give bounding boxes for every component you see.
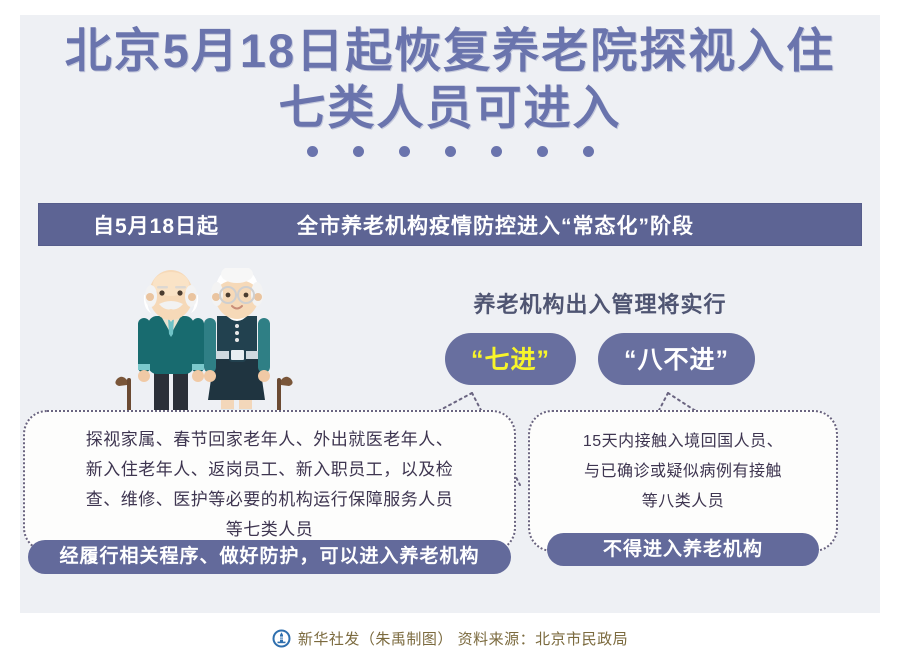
title-dot [491,146,502,157]
denied-line-2: 与已确诊或疑似病例有接触 [542,457,824,487]
poster-title: 北京5月18日起恢复养老院探视入住 七类人员可进入 [20,22,880,157]
banner-date-label: 自5月18日起 [93,210,219,240]
allowed-line-1: 探视家属、春节回家老年人、外出就医老年人、 [41,425,498,455]
infographic-poster: 北京5月18日起恢复养老院探视入住 七类人员可进入 自5月18日起 全市养老机构… [0,0,900,664]
title-dots-decoration [20,146,880,157]
credit-line: 新华社发（朱禹制图） 资料来源：北京市民政局 [0,628,900,649]
xinhua-logo-icon [272,629,291,648]
date-banner: 自5月18日起 全市养老机构疫情防控进入“常态化”阶段 [38,203,862,246]
banner-statement-label: 全市养老机构疫情防控进入“常态化”阶段 [297,210,694,240]
allowed-line-2: 新入住老年人、返岗员工、新入职员工，以及检 [41,455,498,485]
allowed-line-3: 查、维修、医护等必要的机构运行保障服务人员 [41,485,498,515]
title-dot [537,146,548,157]
denied-persons-card: 15天内接触入境回国人员、 与已确诊或疑似病例有接触 等八类人员 [528,410,838,552]
title-dot [583,146,594,157]
allowed-persons-card: 探视家属、春节回家老年人、外出就医老年人、 新入住老年人、返岗员工、新入职员工，… [23,410,516,552]
denied-line-1: 15天内接触入境回国人员、 [542,427,824,457]
title-dot [307,146,318,157]
management-heading: 养老机构出入管理将实行 [400,287,800,319]
title-dot [445,146,456,157]
pill-eight-denied[interactable]: “八不进” [598,333,755,385]
allowed-persons-text: 探视家属、春节回家老年人、外出就医老年人、 新入住老年人、返岗员工、新入职员工，… [25,412,514,545]
denied-persons-text: 15天内接触入境回国人员、 与已确诊或疑似病例有接触 等八类人员 [530,412,836,517]
allowed-conclusion-bar: 经履行相关程序、做好防护，可以进入养老机构 [28,540,511,574]
title-dot [353,146,364,157]
title-dot [399,146,410,157]
denied-line-3: 等八类人员 [542,487,824,517]
elderly-couple-illustration [105,268,305,433]
credit-text: 新华社发（朱禹制图） 资料来源：北京市民政局 [298,628,628,649]
title-line-1: 北京5月18日起恢复养老院探视入住 [20,22,880,79]
denied-conclusion-bar: 不得进入养老机构 [547,533,819,566]
policy-pills: “七进” “八不进” [400,333,800,385]
pill-seven-allowed[interactable]: “七进” [445,333,576,385]
title-line-2: 七类人员可进入 [20,79,880,136]
